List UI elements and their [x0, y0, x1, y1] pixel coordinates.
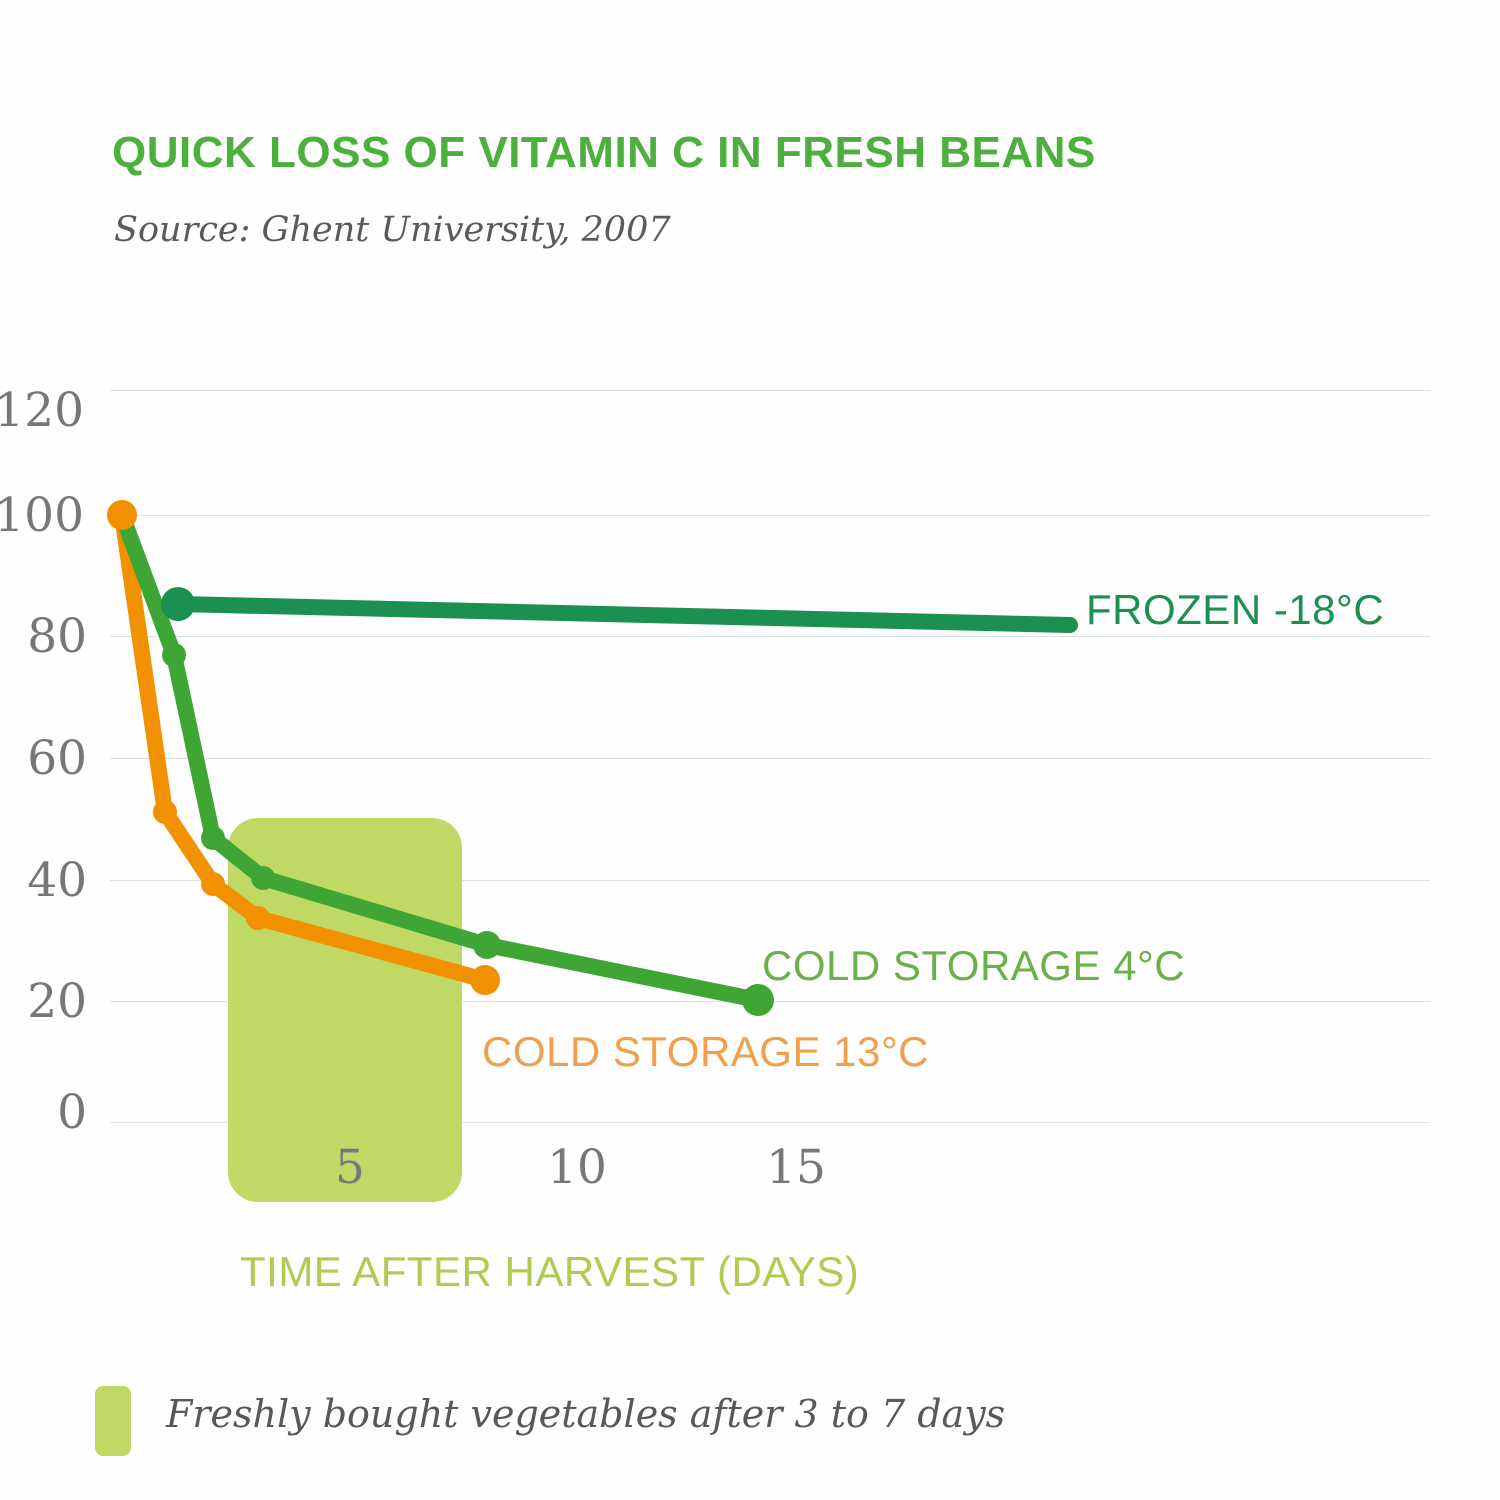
gridline-60	[110, 758, 1430, 759]
data-point-frozen	[161, 587, 195, 621]
ytick-20: 20	[0, 974, 87, 1029]
gridline-120	[110, 390, 1430, 391]
gridline-100	[110, 515, 1430, 516]
xtick-5: 5	[290, 1140, 410, 1195]
xtick-10: 10	[517, 1140, 637, 1195]
legend-swatch-band	[95, 1386, 131, 1456]
legend-label-band: Freshly bought vegetables after 3 to 7 d…	[166, 1392, 1005, 1436]
data-point-cold4	[473, 931, 501, 959]
ytick-40: 40	[0, 853, 87, 908]
ytick-60: 60	[0, 731, 87, 786]
data-point-cold13	[470, 965, 500, 995]
plot-area: 120 100 80 60 40 20 0 5 10 15	[0, 0, 1500, 1500]
ytick-80: 80	[0, 609, 87, 664]
series-label-cold-storage-4c: COLD STORAGE 4°C	[762, 942, 1185, 990]
chart-page: QUICK LOSS OF VITAMIN C IN FRESH BEANS S…	[0, 0, 1500, 1500]
data-point-cold4	[162, 643, 186, 667]
series-label-cold-storage-13c: COLD STORAGE 13°C	[482, 1028, 929, 1076]
x-axis-title: TIME AFTER HARVEST (DAYS)	[240, 1248, 859, 1296]
data-point-cold4	[201, 826, 225, 850]
xtick-15: 15	[736, 1140, 856, 1195]
ytick-0: 0	[0, 1085, 87, 1140]
gridline-80	[110, 636, 1430, 637]
ytick-120: 120	[0, 383, 84, 438]
series-label-frozen: FROZEN -18°C	[1086, 586, 1384, 634]
series-line-frozen	[178, 604, 1070, 625]
data-point-cold13	[153, 800, 177, 824]
data-point-cold13	[201, 872, 225, 896]
ytick-100: 100	[0, 488, 84, 543]
